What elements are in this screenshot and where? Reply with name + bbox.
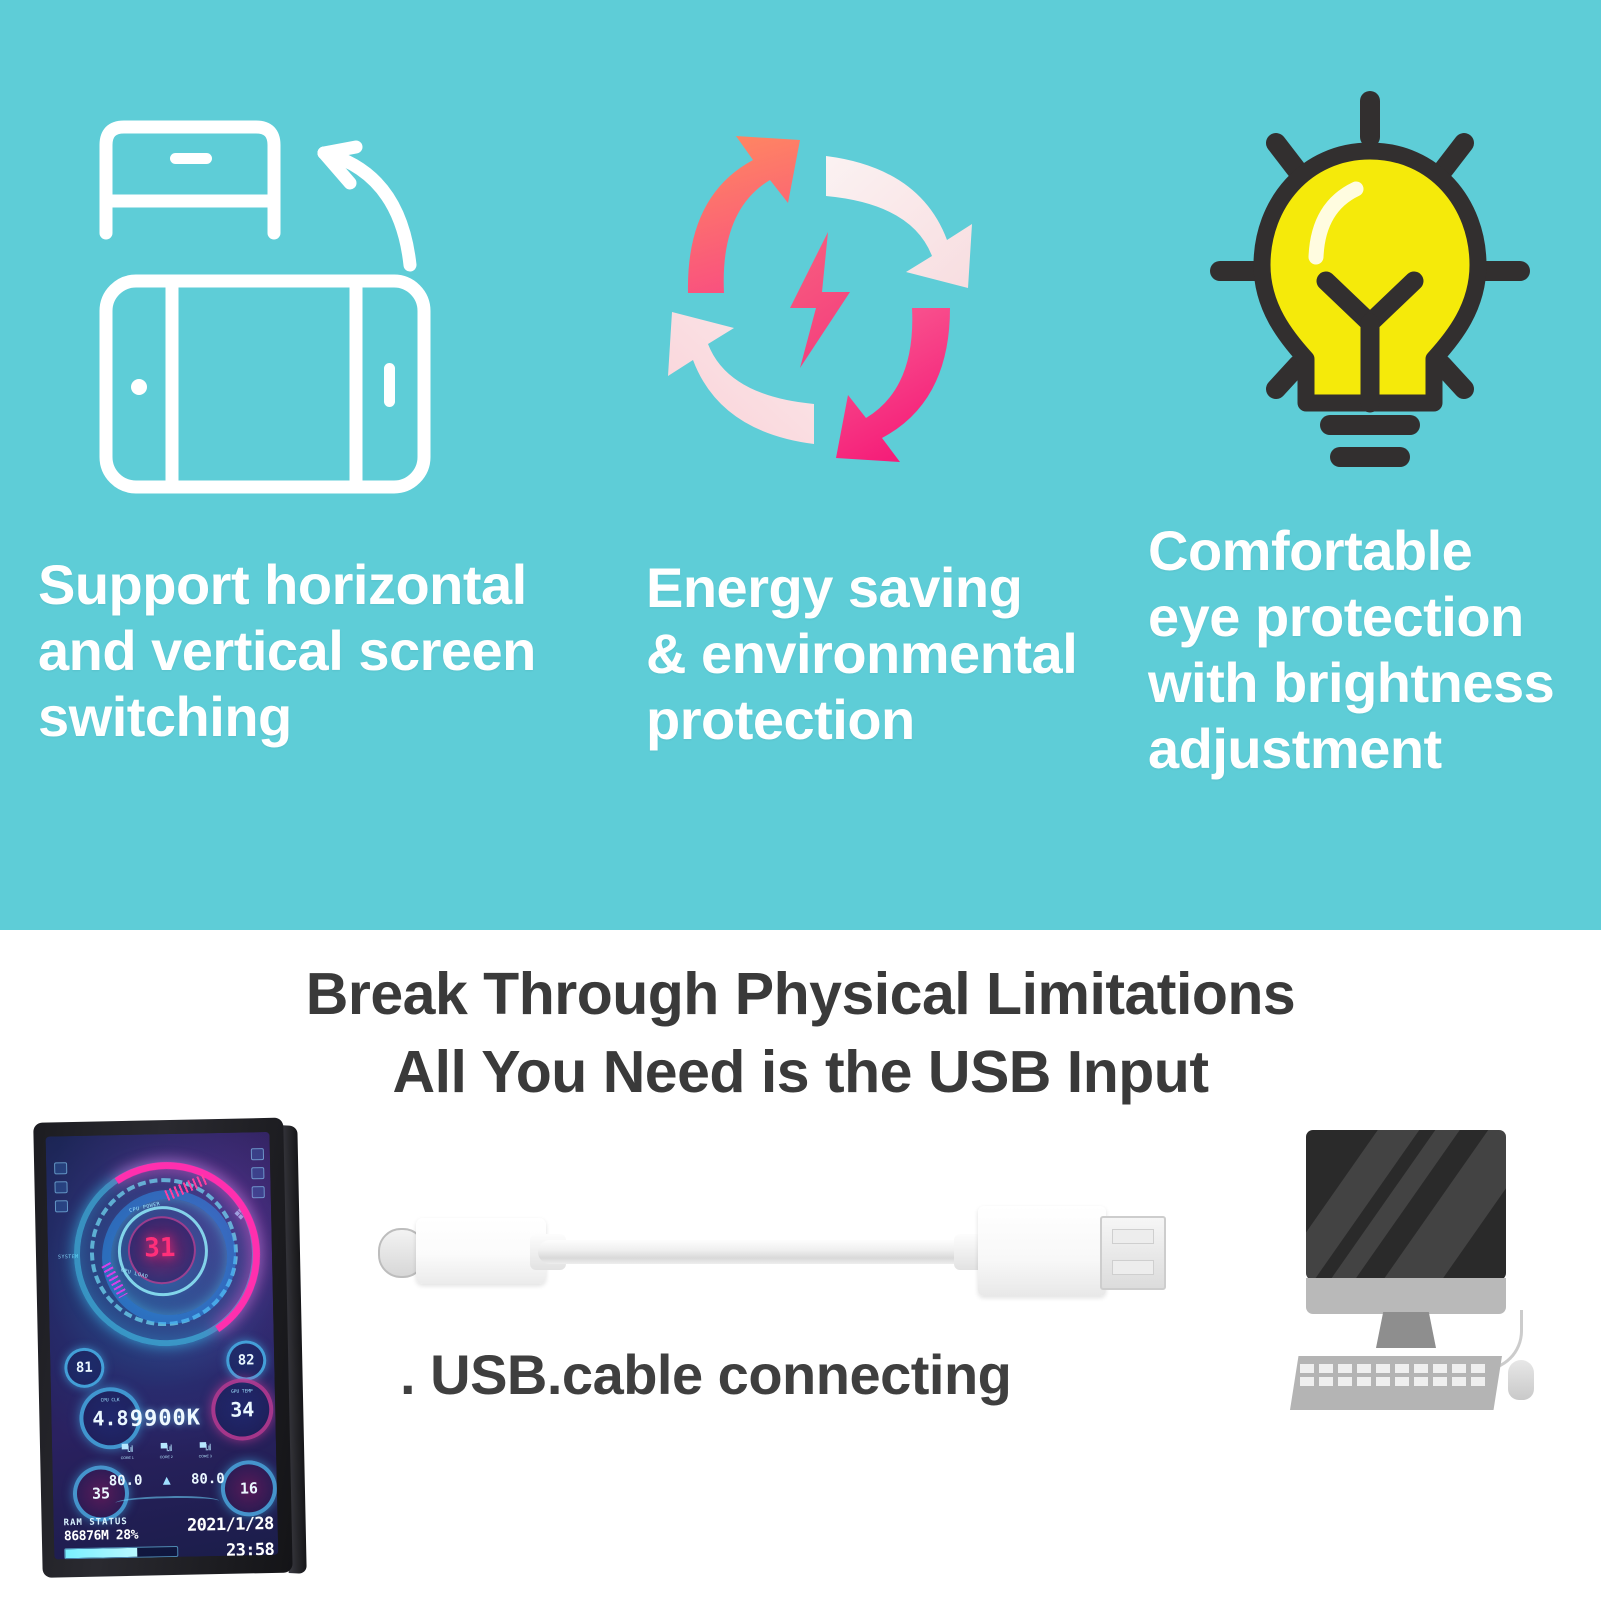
key	[1300, 1364, 1314, 1373]
key	[1357, 1377, 1371, 1386]
screen-icon	[54, 1181, 67, 1193]
screen-date: 2021/1/28	[169, 1514, 273, 1536]
key	[1452, 1377, 1466, 1386]
gauge-82: 82	[226, 1340, 267, 1381]
key	[1433, 1364, 1447, 1373]
feature-caption: Support horizontal and vertical screen s…	[38, 552, 638, 750]
core-bar-label: CORE 2	[153, 1453, 179, 1463]
network-throughput-row: 80.0 ▲ 80.0	[109, 1471, 225, 1489]
key	[1338, 1364, 1352, 1373]
datetime-block: 2021/1/28 23:58	[169, 1514, 274, 1560]
key	[1376, 1377, 1390, 1386]
monitor-screen	[1306, 1130, 1506, 1280]
hud-main-gauge: CPU POWER GPU LOAD 31	[72, 1160, 248, 1336]
key	[1395, 1377, 1409, 1386]
gauge-34: GPU TEMP 34	[211, 1378, 274, 1441]
screen-icon	[251, 1148, 264, 1160]
key	[1376, 1364, 1390, 1373]
cable-wire	[538, 1240, 978, 1264]
product-infographic: Support horizontal and vertical screen s…	[0, 0, 1601, 1601]
feature-energy-saving: Energy saving & environmental protection	[620, 0, 1130, 930]
feature-columns: Support horizontal and vertical screen s…	[0, 0, 1601, 930]
net-download-value: 80.0	[109, 1473, 143, 1490]
features-panel: Support horizontal and vertical screen s…	[0, 0, 1601, 930]
feature-screen-rotation: Support horizontal and vertical screen s…	[0, 0, 620, 930]
waveform-divider	[115, 1495, 219, 1509]
usb-connection-panel: Break Through Physical Limitations All Y…	[0, 930, 1601, 1601]
monitor-chin	[1306, 1278, 1506, 1314]
screen-right-icon-stack	[251, 1148, 263, 1205]
key	[1357, 1364, 1371, 1373]
usb-cable-icon	[378, 1190, 1168, 1310]
lightbulb-icon	[1180, 85, 1560, 485]
usb-a-contact	[1112, 1229, 1154, 1244]
ram-progress-fill	[65, 1548, 137, 1558]
mouse	[1508, 1360, 1534, 1400]
screen-icon	[252, 1186, 265, 1198]
caption-usb: USB	[430, 1343, 547, 1406]
desktop-computer-icon	[1290, 1130, 1580, 1450]
ram-status-block: RAM STATUS 86876M 28%	[64, 1516, 185, 1560]
screen-left-icon-stack	[54, 1162, 66, 1219]
usb-a-connector-tip	[1100, 1216, 1166, 1290]
key	[1300, 1377, 1314, 1386]
screen-rotation-icon	[88, 95, 458, 495]
hud-center-value: 31	[127, 1216, 192, 1281]
key	[1452, 1364, 1466, 1373]
core-bar-label: CORE 3	[192, 1452, 218, 1462]
gauge-value: 34	[230, 1397, 255, 1421]
caption-leading-dot: .	[400, 1343, 415, 1406]
feature-eye-protection: Comfortable eye protection with brightne…	[1130, 0, 1601, 930]
core-bar: ▀l.ılCORE 1	[114, 1445, 140, 1460]
feature-caption: Comfortable eye protection with brightne…	[1148, 518, 1601, 782]
portable-monitor-device: SYSTEM ❖ CPU POWER GPU LOAD 31 81 82	[33, 1117, 311, 1583]
net-upload-value: 80.0	[191, 1471, 225, 1488]
gauge-caption: GPU TEMP	[215, 1389, 269, 1395]
gauge-caption: CPU CLK	[83, 1398, 137, 1404]
caption-mid-dot: .	[547, 1343, 562, 1406]
device-screen: SYSTEM ❖ CPU POWER GPU LOAD 31 81 82	[46, 1132, 279, 1560]
caption-rest: cable connecting	[562, 1343, 1011, 1406]
key	[1414, 1377, 1428, 1386]
feature-caption: Energy saving & environmental protection	[646, 555, 1166, 753]
core-bars-row: ▀l.ılCORE 1 ▀l.ılCORE 2 ▀l.ılCORE 3	[114, 1443, 218, 1459]
monitor-stand	[1376, 1312, 1436, 1348]
usb-a-contact	[1112, 1260, 1154, 1275]
ram-status-value: 86876M 28%	[64, 1527, 184, 1545]
page-headline: Break Through Physical Limitations All Y…	[0, 955, 1601, 1112]
key	[1338, 1377, 1352, 1386]
key	[1471, 1377, 1485, 1386]
key	[1414, 1364, 1428, 1373]
gauge-16: 16	[220, 1460, 277, 1517]
screen-icon	[55, 1200, 68, 1212]
cpu-model-label: 9900K	[113, 1405, 218, 1432]
screen-icon	[251, 1167, 264, 1179]
gauge-81: 81	[64, 1347, 105, 1388]
key	[1319, 1377, 1333, 1386]
usb-c-connector-body	[416, 1218, 546, 1284]
usb-cable-caption: . USB.cable connecting	[400, 1342, 1120, 1407]
keyboard-keys	[1300, 1364, 1495, 1386]
screen-icon	[54, 1162, 67, 1174]
key	[1471, 1364, 1485, 1373]
core-bar: ▀l.ılCORE 2	[153, 1444, 179, 1459]
key	[1395, 1364, 1409, 1373]
home-icon: ▲	[163, 1473, 171, 1488]
core-bar-label: CORE 1	[114, 1454, 140, 1464]
recycle-energy-icon	[650, 120, 990, 470]
key	[1319, 1364, 1333, 1373]
key	[1433, 1377, 1447, 1386]
usb-a-connector-body	[978, 1206, 1106, 1296]
core-bar: ▀l.ılCORE 3	[192, 1443, 218, 1458]
